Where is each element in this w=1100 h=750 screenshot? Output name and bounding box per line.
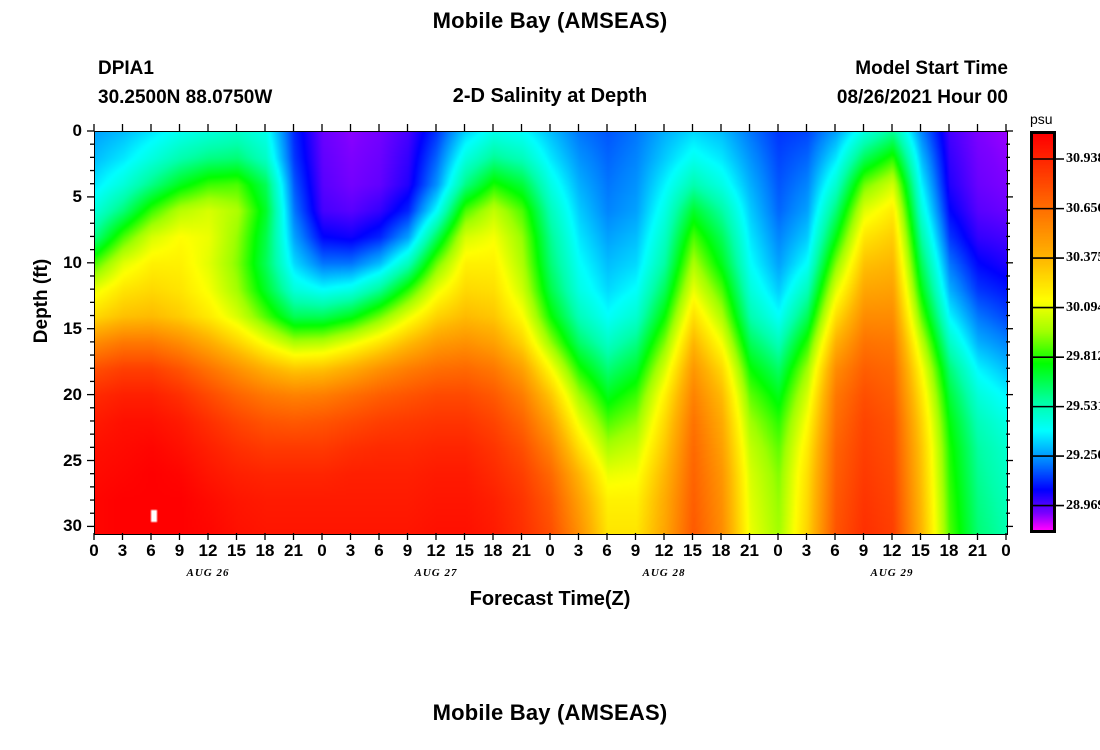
x-axis-tick-label: 12 bbox=[199, 541, 218, 561]
colorbar-tick-label: 29.531 bbox=[1066, 399, 1100, 415]
salinity-field-canvas bbox=[95, 132, 1007, 534]
x-axis-tick-label: 12 bbox=[883, 541, 902, 561]
colorbar-unit-label: psu bbox=[1030, 111, 1053, 127]
colorbar-tick-label: 29.812 bbox=[1066, 349, 1100, 365]
y-axis-tick-label: 10 bbox=[63, 253, 82, 273]
x-axis-tick-label: 18 bbox=[712, 541, 731, 561]
colorbar-tick-label: 28.969 bbox=[1066, 498, 1100, 514]
x-axis-tick-label: 12 bbox=[427, 541, 446, 561]
x-axis-tick-label: 3 bbox=[118, 541, 127, 561]
x-axis-tick-label: 6 bbox=[830, 541, 839, 561]
x-axis-tick-label: 9 bbox=[859, 541, 868, 561]
x-axis-tick-label: 3 bbox=[346, 541, 355, 561]
colorbar-gradient bbox=[1033, 134, 1053, 530]
x-axis-title: Forecast Time(Z) bbox=[0, 588, 1100, 611]
y-axis-tick-label: 5 bbox=[73, 187, 82, 207]
y-axis-tick-label: 25 bbox=[63, 451, 82, 471]
x-axis-tick-label: 18 bbox=[256, 541, 275, 561]
x-axis-tick-label: 15 bbox=[683, 541, 702, 561]
x-axis-tick-label: 15 bbox=[455, 541, 474, 561]
x-axis-tick-labels: 0369121518210369121518210369121518210369… bbox=[0, 541, 1100, 565]
x-axis-tick-label: 21 bbox=[512, 541, 531, 561]
x-axis-tick-label: 3 bbox=[574, 541, 583, 561]
station-id: DPIA1 bbox=[98, 58, 154, 80]
x-axis-tick-label: 3 bbox=[802, 541, 811, 561]
x-axis-tick-label: 12 bbox=[655, 541, 674, 561]
x-axis-tick-label: 0 bbox=[89, 541, 98, 561]
colorbar bbox=[1030, 131, 1056, 533]
y-axis-tick-label: 30 bbox=[63, 516, 82, 536]
x-axis-day-label: AUG 29 bbox=[871, 567, 914, 579]
y-axis-tick-label: 0 bbox=[73, 121, 82, 141]
colorbar-tick-label: 30.938 bbox=[1066, 151, 1100, 167]
colorbar-tick-label: 29.250 bbox=[1066, 448, 1100, 464]
x-axis-tick-label: 6 bbox=[374, 541, 383, 561]
colorbar-tick-label: 30.375 bbox=[1066, 250, 1100, 266]
x-axis-tick-label: 21 bbox=[968, 541, 987, 561]
colorbar-tick-label: 30.656 bbox=[1066, 201, 1100, 217]
x-axis-tick-label: 18 bbox=[940, 541, 959, 561]
x-axis-day-label: AUG 26 bbox=[187, 567, 230, 579]
x-axis-day-label: AUG 27 bbox=[415, 567, 458, 579]
x-axis-tick-label: 6 bbox=[602, 541, 611, 561]
x-axis-tick-label: 0 bbox=[317, 541, 326, 561]
salinity-heatmap-plot bbox=[94, 131, 1008, 535]
x-axis-tick-label: 15 bbox=[227, 541, 246, 561]
x-axis-tick-label: 0 bbox=[773, 541, 782, 561]
x-axis-tick-label: 21 bbox=[284, 541, 303, 561]
colorbar-tick-label: 30.094 bbox=[1066, 300, 1100, 316]
page-title: Mobile Bay (AMSEAS) bbox=[0, 8, 1100, 34]
y-axis-title: Depth (ft) bbox=[31, 231, 53, 371]
x-axis-tick-label: 9 bbox=[403, 541, 412, 561]
x-axis-day-label: AUG 28 bbox=[643, 567, 686, 579]
footer-title: Mobile Bay (AMSEAS) bbox=[0, 700, 1100, 726]
x-axis-tick-label: 9 bbox=[175, 541, 184, 561]
y-axis-tick-label: 20 bbox=[63, 385, 82, 405]
x-axis-day-labels: AUG 26AUG 27AUG 28AUG 29 bbox=[0, 567, 1100, 585]
y-axis-tick-label: 15 bbox=[63, 319, 82, 339]
model-start-time-value: 08/26/2021 Hour 00 bbox=[837, 87, 1008, 109]
model-start-time-label: Model Start Time bbox=[855, 58, 1008, 80]
x-axis-tick-label: 0 bbox=[545, 541, 554, 561]
x-axis-tick-label: 15 bbox=[911, 541, 930, 561]
x-axis-tick-label: 9 bbox=[631, 541, 640, 561]
x-axis-tick-label: 18 bbox=[484, 541, 503, 561]
x-axis-tick-label: 6 bbox=[146, 541, 155, 561]
x-axis-tick-label: 0 bbox=[1001, 541, 1010, 561]
x-axis-tick-label: 21 bbox=[740, 541, 759, 561]
